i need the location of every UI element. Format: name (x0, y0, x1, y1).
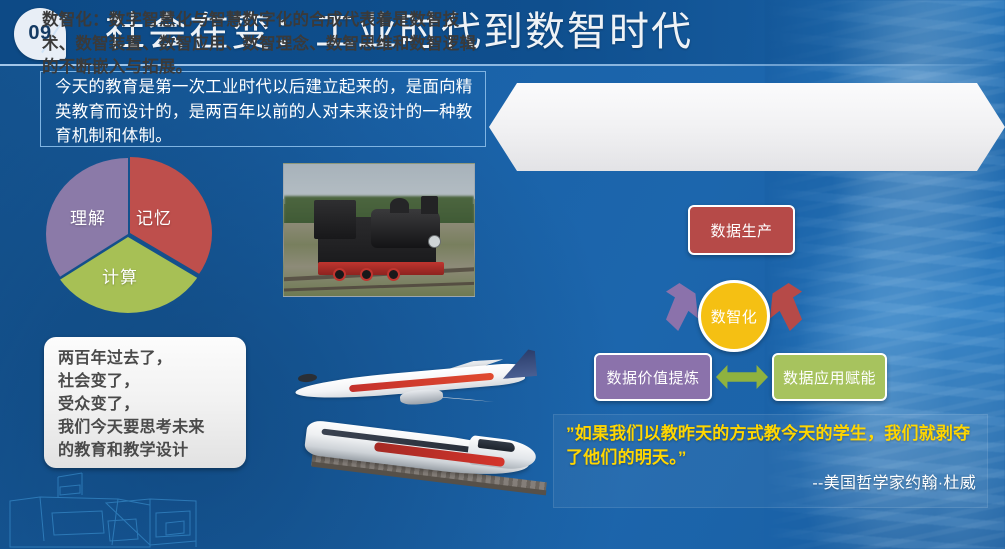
diagram-node-value-extraction: 数据价值提炼 (594, 353, 712, 401)
pie-label-compute: 计算 (102, 263, 138, 288)
quote-text: ”如果我们以教昨天的方式教今天的学生，我们就剥夺了他们的明天。” (566, 422, 986, 470)
intro-text-box: 今天的教育是第一次工业时代以后建立起来的，是面向精英教育而设计的，是两百年以前的… (40, 71, 486, 147)
digital-intelligence-diagram: 数据生产 数智化 数据价值提炼 数据应用赋能 (580, 195, 910, 417)
reflection-card-text: 两百年过去了， 社会变了， 受众变了， 我们今天要思考未来 的教育和教学设计 (58, 347, 246, 462)
definition-callout-shape (489, 83, 1005, 171)
diagram-node-application-empowerment: 数据应用赋能 (772, 353, 887, 401)
quote-attribution: --美国哲学家约翰·杜威 (566, 473, 976, 495)
loco-cab (314, 200, 356, 240)
loco-smokestack (421, 196, 438, 214)
commercial-airplane-photo (290, 345, 558, 425)
arrow-horizontal-double-icon (716, 365, 768, 389)
pie-label-memory: 记忆 (136, 204, 172, 229)
arrow-center-to-right-icon (770, 283, 802, 331)
diagram-node-data-production: 数据生产 (688, 205, 795, 255)
steam-locomotive-photo (283, 163, 475, 297)
skills-pie-chart: 理解 记忆 计算 (46, 158, 210, 310)
definition-callout-text: 数智化：数字智慧化与智慧数字化的合成代表着是数智技术、数智装置、数智应用、数智理… (42, 9, 486, 80)
slide-root: 09 社会在变：工业时代到数智时代 今天的教育是第一次工业时代以后建立起来的，是… (0, 0, 1005, 549)
diagram-node-digital-intelligence: 数智化 (698, 280, 770, 352)
arrow-center-to-left-icon (666, 283, 698, 331)
high-speed-train-photo (295, 420, 557, 492)
loco-steam-dome (390, 198, 409, 213)
plane-cockpit-window (298, 373, 317, 383)
reflection-card: 两百年过去了， 社会变了， 受众变了， 我们今天要思考未来 的教育和教学设计 (44, 337, 246, 468)
pie-label-understand: 理解 (70, 204, 106, 229)
